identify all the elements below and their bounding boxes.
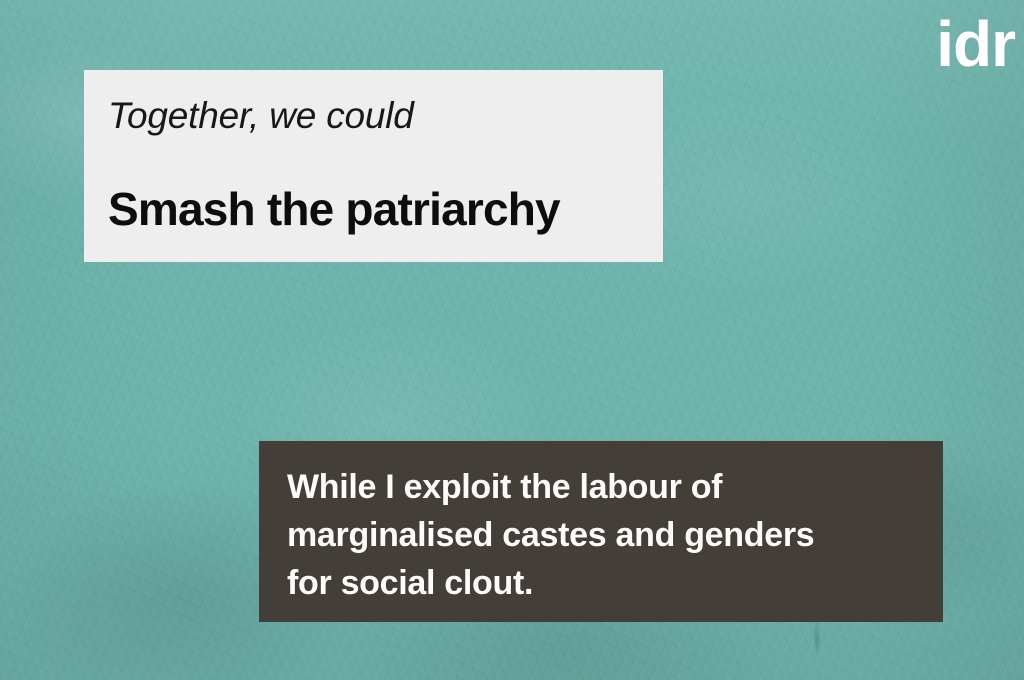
reply-line-3: for social clout.: [287, 559, 923, 607]
quote-lede-text: Together, we could: [108, 94, 641, 138]
reply-body-text: While I exploit the labour of marginalis…: [287, 463, 923, 607]
reply-line-1: While I exploit the labour of: [287, 463, 923, 511]
quote-card-canvas: idr Together, we could Smash the patriar…: [0, 0, 1024, 680]
dark-reply-card: While I exploit the labour of marginalis…: [259, 441, 943, 622]
light-quote-card: Together, we could Smash the patriarchy: [84, 70, 663, 262]
idr-logo: idr: [915, 6, 1015, 82]
reply-line-2: marginalised castes and genders: [287, 511, 923, 559]
quote-headline-text: Smash the patriarchy: [108, 182, 641, 236]
